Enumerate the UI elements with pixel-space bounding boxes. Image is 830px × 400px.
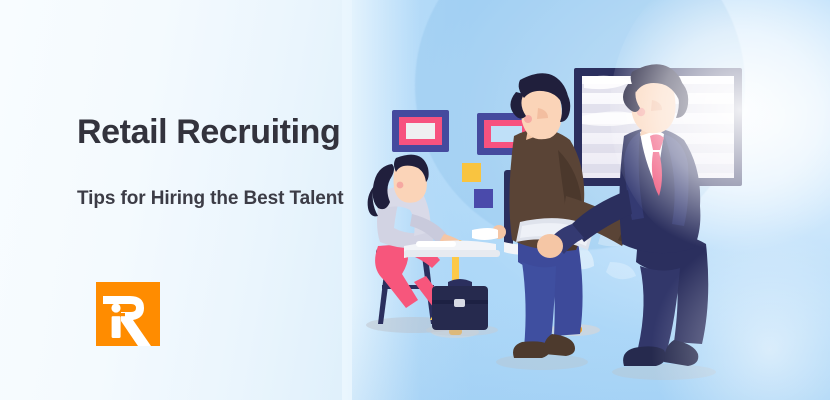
page-title: Retail Recruiting bbox=[77, 113, 340, 152]
page-subtitle: Tips for Hiring the Best Talent bbox=[77, 188, 343, 210]
banner: Retail Recruiting Tips for Hiring the Be… bbox=[0, 0, 830, 400]
logo-ir-icon[interactable] bbox=[96, 282, 160, 346]
wall-frame-left-icon bbox=[392, 110, 449, 152]
briefcase-icon bbox=[426, 279, 498, 336]
sticky-note-yellow-icon bbox=[462, 163, 481, 182]
sticky-note-blue-icon bbox=[474, 189, 493, 208]
